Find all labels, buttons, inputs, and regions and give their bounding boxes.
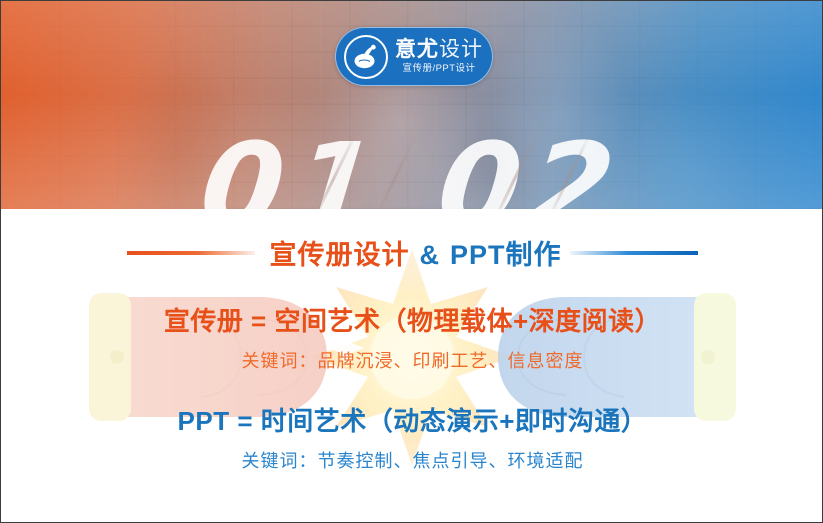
brush-circle-icon <box>344 35 388 79</box>
logo-title-thin: 设计 <box>439 38 483 61</box>
ppt-keywords: 关键词：节奏控制、焦点引导、环境适配 <box>1 447 823 473</box>
section-title-orange: 宣传册设计 <box>269 240 409 270</box>
logo-title-bold: 意尤 <box>395 38 439 61</box>
section-title: 宣传册设计&PPT制作 <box>269 233 561 272</box>
title-rule-right <box>570 251 698 255</box>
content-area: 宣传册设计&PPT制作 宣传册 = 空间艺术（物理载体+深度阅读） 关键词：品牌… <box>1 209 823 523</box>
title-rule-left <box>127 251 255 255</box>
brand-logo[interactable]: 意尤设计 宣传册/PPT设计 <box>335 27 493 86</box>
content-block-brochure: 宣传册 = 空间艺术（物理载体+深度阅读） 关键词：品牌沉浸、印刷工艺、信息密度 <box>1 305 823 373</box>
slide-canvas: 01 02 意尤设计 宣传册/PPT设计 <box>0 0 823 523</box>
watermark-number-02: 02 <box>432 117 631 209</box>
brochure-keywords: 关键词：品牌沉浸、印刷工艺、信息密度 <box>1 347 823 373</box>
watermark-number-01: 01 <box>194 117 393 209</box>
section-title-blue: PPT制作 <box>450 240 562 270</box>
section-title-row: 宣传册设计&PPT制作 <box>1 233 823 272</box>
section-title-ampersand: & <box>409 240 450 270</box>
header-banner: 01 02 意尤设计 宣传册/PPT设计 <box>1 1 823 209</box>
logo-text-group: 意尤设计 宣传册/PPT设计 <box>395 39 483 74</box>
brochure-headline: 宣传册 = 空间艺术（物理载体+深度阅读） <box>1 305 823 338</box>
ppt-headline: PPT = 时间艺术（动态演示+即时沟通） <box>1 405 823 438</box>
logo-title: 意尤设计 <box>395 39 483 60</box>
logo-subtitle: 宣传册/PPT设计 <box>395 64 483 74</box>
content-block-ppt: PPT = 时间艺术（动态演示+即时沟通） 关键词：节奏控制、焦点引导、环境适配 <box>1 405 823 473</box>
